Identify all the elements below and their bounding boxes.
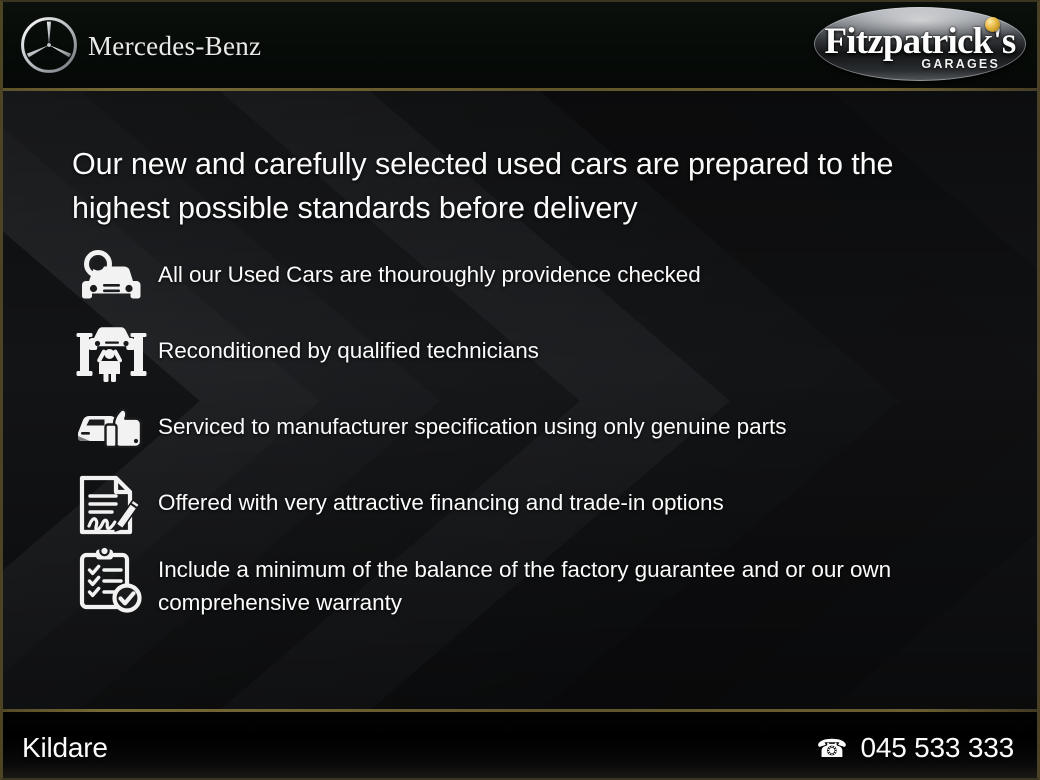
page-title: Our new and carefully selected used cars… [72,142,972,230]
list-item: Offered with very attractive financing a… [66,474,1026,536]
list-item-label: Serviced to manufacturer specification u… [158,398,1026,443]
dealer-location: Kildare [22,732,108,764]
car-magnifier-inspection-icon [66,246,158,308]
list-item-label: Include a minimum of the balance of the … [158,550,1026,619]
gold-dot-icon [985,17,1000,32]
list-item: All our Used Cars are thouroughly provid… [66,246,1026,308]
telephone-icon: ☎ [816,737,847,762]
car-thumbs-up-icon [66,398,158,460]
car-lift-mechanic-icon [66,322,158,384]
list-item-label: All our Used Cars are thouroughly provid… [158,246,1026,291]
footer-bar: Kildare ☎ 045 533 333 [0,712,1040,780]
promo-poster: Mercedes-Benz Fitzpatrick's GARAGES Our … [0,0,1040,780]
list-item-label: Offered with very attractive financing a… [158,474,1026,519]
list-item: Serviced to manufacturer specification u… [66,398,1026,460]
main-content: Our new and carefully selected used cars… [0,91,1040,710]
document-pen-signature-icon [66,474,158,536]
clipboard-checklist-check-icon [66,550,158,612]
header-bar: Mercedes-Benz Fitzpatrick's GARAGES [0,0,1040,88]
footer-divider [0,709,1040,712]
phone-number[interactable]: 045 533 333 [860,732,1014,764]
header-divider [0,88,1040,91]
list-item: Reconditioned by qualified technicians [66,322,1026,384]
mercedes-benz-star-icon [19,15,79,75]
brand-wordmark: Mercedes-Benz [88,31,261,62]
benefits-list: All our Used Cars are thouroughly provid… [66,246,1026,648]
dealer-logo-badge[interactable]: Fitzpatrick's GARAGES [814,7,1026,81]
contact-block[interactable]: ☎ 045 533 333 [816,732,1014,764]
list-item-label: Reconditioned by qualified technicians [158,322,1026,367]
list-item: Include a minimum of the balance of the … [66,550,1026,634]
dealer-subtitle: GARAGES [921,57,1000,71]
